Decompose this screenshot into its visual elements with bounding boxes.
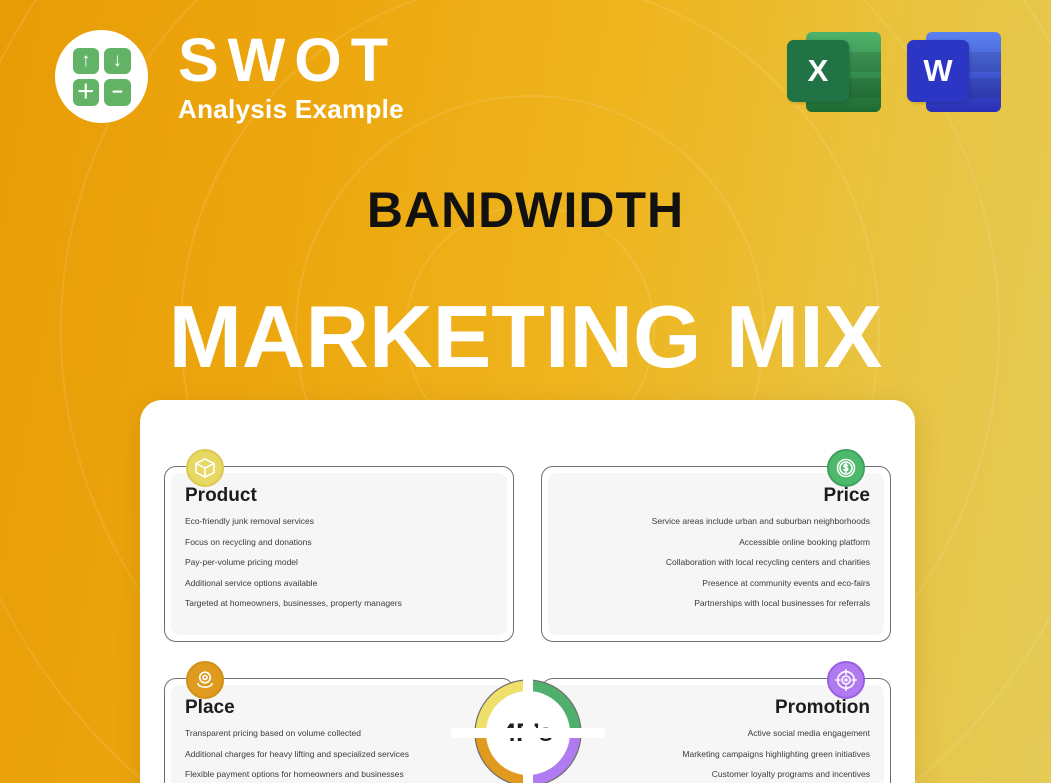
- location-pin-icon: [186, 661, 224, 699]
- quadrant-product-line: Pay-per-volume pricing model: [185, 558, 493, 567]
- quadrant-product-line: Targeted at homeowners, businesses, prop…: [185, 599, 493, 608]
- dollar-coin-icon: [827, 449, 865, 487]
- marketing-mix-card: Product Eco-friendly junk removal servic…: [140, 400, 915, 783]
- donut-gap-vertical: [523, 656, 533, 783]
- quadrant-price-line: Service areas include urban and suburban…: [562, 517, 870, 526]
- quadrant-place-title: Place: [185, 697, 493, 719]
- quadrant-price-line: Presence at community events and eco-fai…: [562, 579, 870, 588]
- quadrant-promotion-title: Promotion: [562, 697, 870, 719]
- quadrant-price[interactable]: Price Service areas include urban and su…: [541, 466, 891, 642]
- brand-name: BANDWIDTH: [0, 181, 1051, 239]
- quadrant-product[interactable]: Product Eco-friendly junk removal servic…: [164, 466, 514, 642]
- four-ps-donut: 4P’s: [467, 672, 589, 783]
- quadrant-promotion-line: Marketing campaigns highlighting green i…: [562, 750, 870, 759]
- quadrant-product-title: Product: [185, 485, 493, 507]
- quadrant-place-line: Transparent pricing based on volume coll…: [185, 729, 493, 738]
- quadrant-grid: Product Eco-friendly junk removal servic…: [164, 430, 891, 783]
- quadrant-price-line: Accessible online booking platform: [562, 538, 870, 547]
- quadrant-place-line: Additional charges for heavy lifting and…: [185, 750, 493, 759]
- swot-wordmark: SWOT Analysis Example: [178, 28, 404, 125]
- swot-quadrant-icon: ↑ ↓ ＋ −: [55, 30, 148, 123]
- swot-title: SWOT: [178, 28, 404, 92]
- quadrant-product-line: Eco-friendly junk removal services: [185, 517, 493, 526]
- target-icon: [827, 661, 865, 699]
- quadrant-place-line: Flexible payment options for homeowners …: [185, 770, 493, 779]
- arrow-up-icon: ↑: [73, 48, 100, 75]
- word-icon[interactable]: W: [907, 28, 1001, 116]
- quadrant-promotion-line: Active social media engagement: [562, 729, 870, 738]
- quadrant-price-line: Partnerships with local businesses for r…: [562, 599, 870, 608]
- office-icon-group: X W: [787, 28, 1001, 116]
- arrow-down-icon: ↓: [104, 48, 131, 75]
- quadrant-product-line: Additional service options available: [185, 579, 493, 588]
- excel-icon-letter: X: [787, 40, 849, 102]
- quadrant-product-line: Focus on recycling and donations: [185, 538, 493, 547]
- quadrant-price-line: Collaboration with local recycling cente…: [562, 558, 870, 567]
- plus-icon: ＋: [73, 79, 100, 106]
- minus-icon: −: [104, 79, 131, 106]
- word-icon-letter: W: [907, 40, 969, 102]
- box-icon: [186, 449, 224, 487]
- quadrant-promotion-line: Customer loyalty programs and incentives: [562, 770, 870, 779]
- page-title: MARKETING MIX: [0, 286, 1051, 388]
- swot-subtitle: Analysis Example: [178, 94, 404, 125]
- header-bar: ↑ ↓ ＋ − SWOT Analysis Example X W: [0, 0, 1051, 150]
- excel-icon[interactable]: X: [787, 28, 881, 116]
- quadrant-price-title: Price: [562, 485, 870, 507]
